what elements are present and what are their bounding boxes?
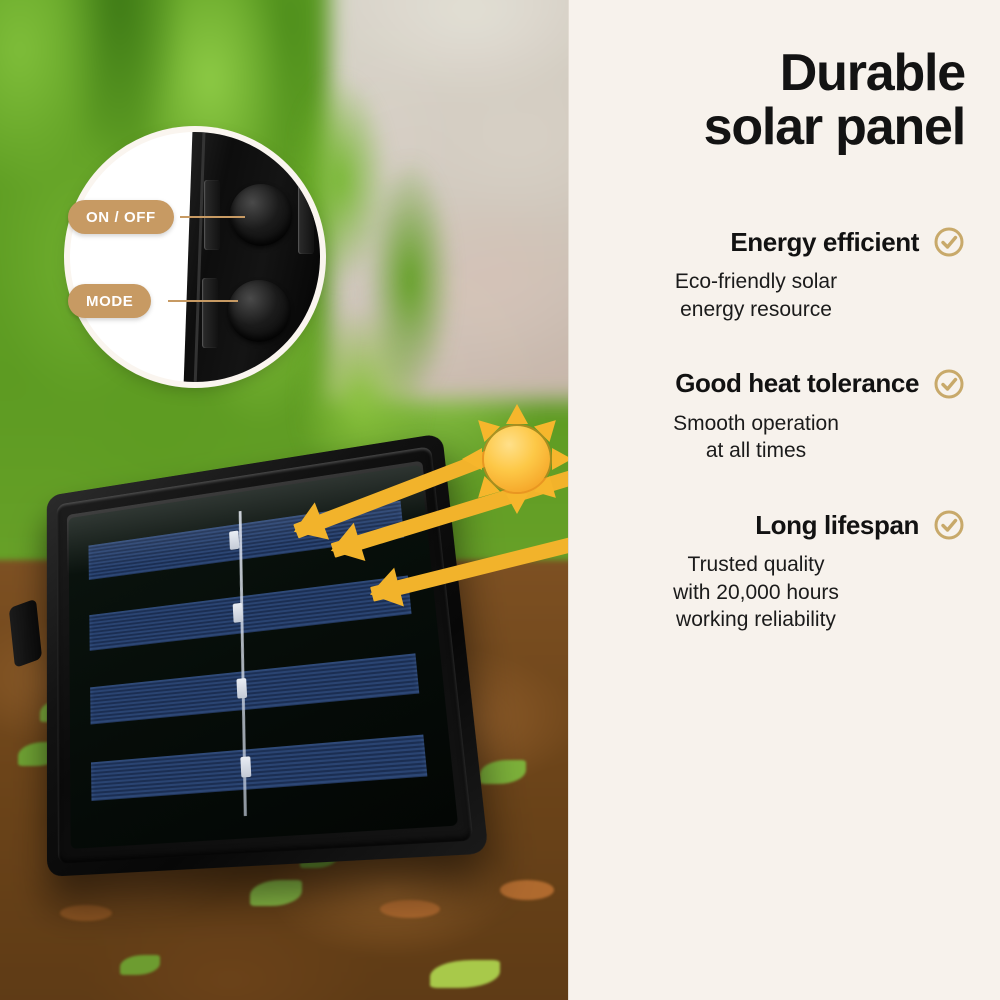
controls-zoom-callout bbox=[70, 132, 320, 382]
feature-description-line: at all times bbox=[593, 437, 919, 465]
feature-title: Energy efficient bbox=[730, 227, 919, 258]
sun-ray-arrow bbox=[370, 530, 572, 601]
mode-button-label: MODE bbox=[68, 284, 151, 318]
product-feature-graphic: ON / OFF MODE Durable solar panel Energy… bbox=[0, 0, 1000, 1000]
feature-heading: Good heat tolerance bbox=[593, 368, 965, 400]
title-line-1: Durable bbox=[780, 44, 965, 102]
feature-list: Energy efficient Eco-friendly solar ener… bbox=[569, 226, 1000, 634]
on-off-button[interactable] bbox=[230, 184, 292, 246]
feature-item-long-lifespan: Long lifespan Trusted quality with 20,00… bbox=[593, 509, 965, 634]
feature-heading: Energy efficient bbox=[593, 226, 965, 258]
feature-description-line: Eco-friendly solar bbox=[593, 268, 919, 296]
feature-title: Good heat tolerance bbox=[675, 368, 919, 399]
page-title: Durable solar panel bbox=[569, 0, 1000, 154]
feature-item-energy-efficient: Energy efficient Eco-friendly solar ener… bbox=[593, 226, 965, 323]
mode-emboss-text bbox=[202, 278, 218, 348]
check-circle-icon bbox=[933, 368, 965, 400]
product-photo: ON / OFF MODE bbox=[0, 0, 572, 1000]
sun-icon bbox=[462, 404, 572, 514]
feature-description: Eco-friendly solar energy resource bbox=[593, 268, 965, 323]
feature-heading: Long lifespan bbox=[593, 509, 965, 541]
mode-leader-line bbox=[168, 300, 238, 302]
check-circle-icon bbox=[933, 509, 965, 541]
on-off-emboss-text bbox=[204, 180, 220, 250]
title-line-2: solar panel bbox=[599, 100, 965, 154]
feature-description-line: Trusted quality bbox=[593, 551, 919, 579]
feature-description-line: Smooth operation bbox=[593, 410, 919, 438]
feature-description: Trusted quality with 20,000 hours workin… bbox=[593, 551, 965, 634]
feature-description-line: energy resource bbox=[593, 296, 919, 324]
feature-item-heat-tolerance: Good heat tolerance Smooth operation at … bbox=[593, 368, 965, 465]
sun-core bbox=[484, 426, 550, 492]
mode-button[interactable] bbox=[228, 280, 290, 342]
feature-description-line: working reliability bbox=[593, 606, 919, 634]
feature-description: Smooth operation at all times bbox=[593, 410, 965, 465]
on-off-button-label: ON / OFF bbox=[68, 200, 174, 234]
check-circle-icon bbox=[933, 226, 965, 258]
feature-title: Long lifespan bbox=[755, 510, 919, 541]
content-panel: Durable solar panel Energy efficient Eco… bbox=[568, 0, 1000, 1000]
on-off-leader-line bbox=[180, 216, 245, 218]
light-emboss-text bbox=[298, 184, 314, 254]
feature-description-line: with 20,000 hours bbox=[593, 579, 919, 607]
